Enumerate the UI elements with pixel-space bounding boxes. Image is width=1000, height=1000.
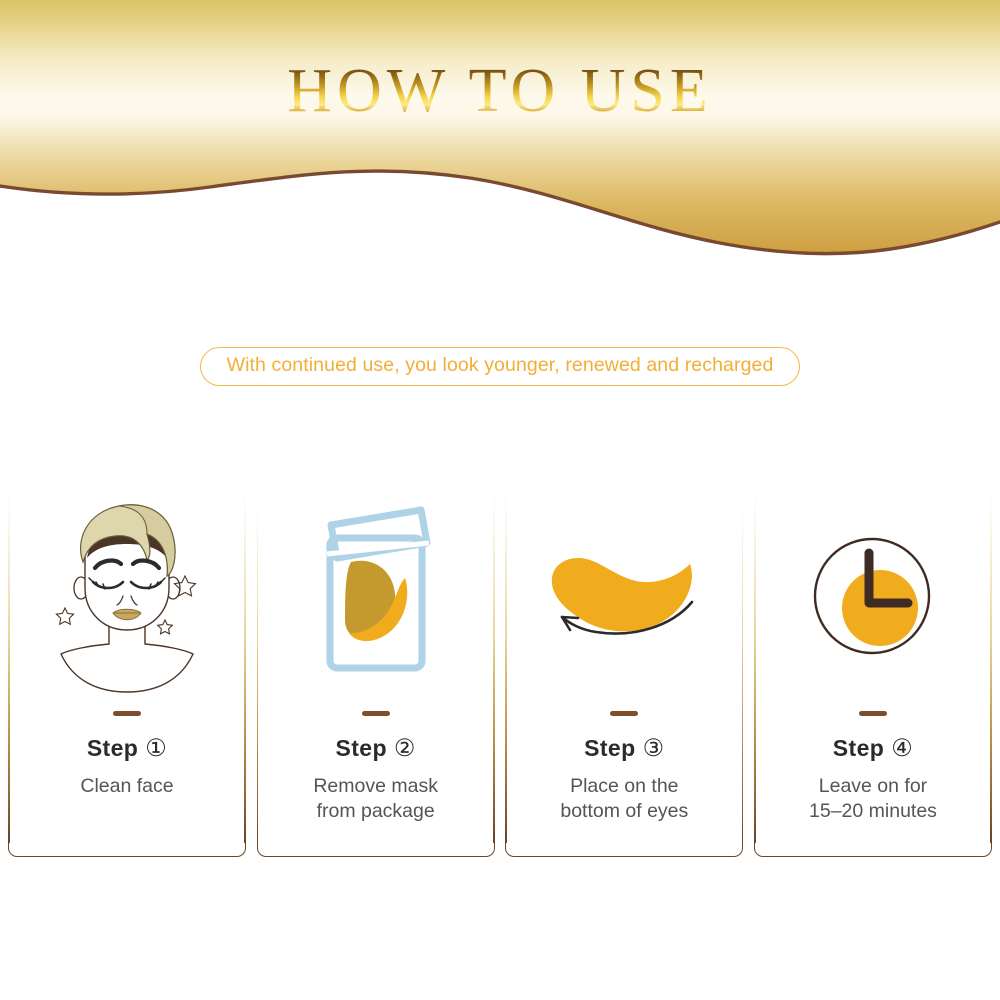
step-number: ② [394,734,416,763]
step-4-illustration [754,487,992,699]
header-wave-shape [0,0,1000,265]
step-description-4: Leave on for 15–20 minutes [809,774,937,824]
step-2-illustration [257,487,495,699]
step-description-2: Remove mask from package [313,774,438,824]
divider-dash [610,711,638,716]
sparkle-star-icon [56,608,73,624]
step-label-4: Step ④ [833,734,913,763]
step-label-3: Step ③ [584,734,664,763]
step-description-line: Leave on for [809,774,937,799]
header-gold-fill [0,0,1000,254]
step-description-line: 15–20 minutes [809,799,937,824]
step-number: ④ [891,734,913,763]
step-word: Step [335,735,386,762]
woman-face-with-hair-towel-icon [47,496,207,696]
page-title: HOW TO USE [0,60,1000,122]
step-description-1: Clean face [80,774,173,799]
step-number: ③ [643,734,665,763]
eye-patch-with-arrow-icon [534,496,714,696]
step-word: Step [833,735,884,762]
step-card-2[interactable]: Step ② Remove mask from package [257,487,495,857]
eye-mask-package-icon [301,496,451,696]
step-description-line: Remove mask [313,774,438,799]
card-border-bottom [8,831,246,857]
card-border-bottom [754,831,992,857]
divider-dash [859,711,887,716]
step-card-3[interactable]: Step ③ Place on the bottom of eyes [505,487,743,857]
sparkle-star-icon [158,620,173,634]
step-description-line: from package [313,799,438,824]
step-card-1[interactable]: Step ① Clean face [8,487,246,857]
step-3-illustration [505,487,743,699]
step-1-illustration [8,487,246,699]
steps-row: Step ① Clean face [8,487,992,857]
clock-icon [798,496,948,696]
step-label-2: Step ② [335,734,415,763]
step-label-1: Step ① [87,734,167,763]
step-description-line: Place on the [560,774,688,799]
tagline-pill: With continued use, you look younger, re… [200,347,801,386]
step-description-3: Place on the bottom of eyes [560,774,688,824]
card-border-bottom [505,831,743,857]
step-description-line: bottom of eyes [560,799,688,824]
step-word: Step [584,735,635,762]
step-description-line: Clean face [80,775,173,797]
divider-dash [113,711,141,716]
step-card-4[interactable]: Step ④ Leave on for 15–20 minutes [754,487,992,857]
card-border-bottom [257,831,495,857]
header-banner: HOW TO USE [0,0,1000,265]
divider-dash [362,711,390,716]
tagline-container: With continued use, you look younger, re… [0,347,1000,386]
step-word: Step [87,735,138,762]
step-number: ① [145,734,167,763]
